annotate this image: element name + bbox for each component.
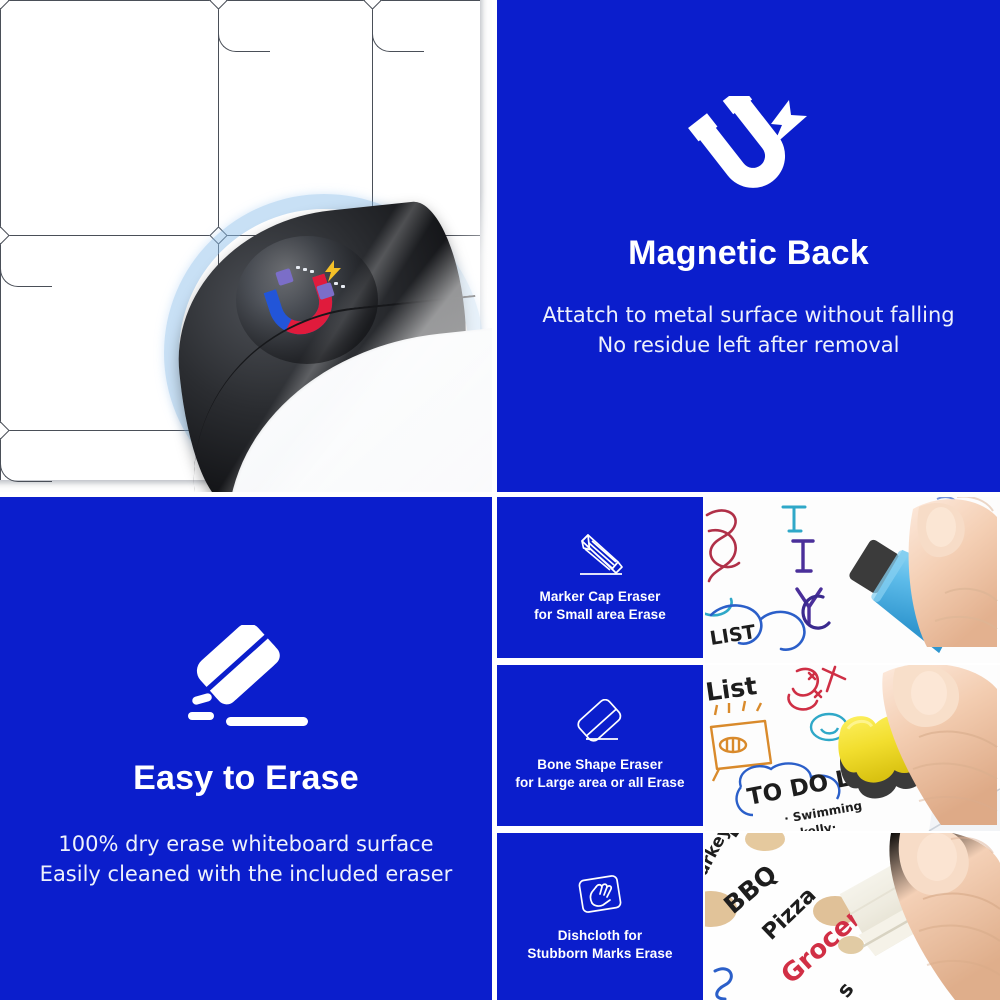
whiteboard-photo-panel [0,0,492,492]
feature-card-column: Marker Cap Eraser for Small area Erase B… [497,497,703,1000]
feature-card-1-line-1: Bone Shape Eraser [515,756,684,774]
magnetic-back-title: Magnetic Back [628,234,869,273]
magnetic-subtitle-line-1: Attatch to metal surface without falling [542,301,954,331]
feature-card-2-line-2: Stubborn Marks Erase [527,945,672,963]
dishcloth-hand-icon [572,870,628,918]
photo-bone-shape-eraser: List [705,665,1000,831]
pencil-marker-icon [572,531,628,579]
lightning-bolt-icon [324,260,342,282]
eraser-icon [180,625,312,733]
product-infographic: Magnetic Back Attatch to metal surface w… [0,0,1000,1000]
feature-card-0-text: Marker Cap Eraser for Small area Erase [534,588,666,624]
feature-card-1-text: Bone Shape Eraser for Large area or all … [515,756,684,792]
photo-marker-cap-eraser: LIST [705,497,1000,663]
feature-card-2-line-1: Dishcloth for [527,927,672,945]
photo-column: LIST [705,497,1000,1000]
feature-card-0-line-1: Marker Cap Eraser [534,588,666,606]
photo-dishcloth: urkey BBQ E Pizza Grocer s [705,833,1000,1000]
easy-to-erase-title: Easy to Erase [133,759,359,798]
erase-subtitle-line-2: Easily cleaned with the included eraser [40,860,453,890]
magnetic-back-subtitle: Attatch to metal surface without falling… [542,301,954,361]
erase-subtitle-line-1: 100% dry erase whiteboard surface [40,830,453,860]
feature-card-2-text: Dishcloth for Stubborn Marks Erase [527,927,672,963]
magnetic-subtitle-line-2: No residue left after removal [542,331,954,361]
feature-card-bone-shape-eraser: Bone Shape Eraser for Large area or all … [497,665,703,826]
feature-card-dishcloth: Dishcloth for Stubborn Marks Erase [497,833,703,1000]
peeled-corner [150,190,492,492]
feature-card-marker-cap-eraser: Marker Cap Eraser for Small area Erase [497,497,703,658]
easy-to-erase-panel: Easy to Erase 100% dry erase whiteboard … [0,497,492,1000]
easy-to-erase-subtitle: 100% dry erase whiteboard surface Easily… [40,830,453,890]
feature-card-0-line-2: for Small area Erase [534,606,666,624]
feature-card-1-line-2: for Large area or all Erase [515,774,684,792]
bone-eraser-icon [572,699,628,747]
magnet-icon [685,96,813,208]
magnetic-back-panel: Magnetic Back Attatch to metal surface w… [497,0,1000,492]
